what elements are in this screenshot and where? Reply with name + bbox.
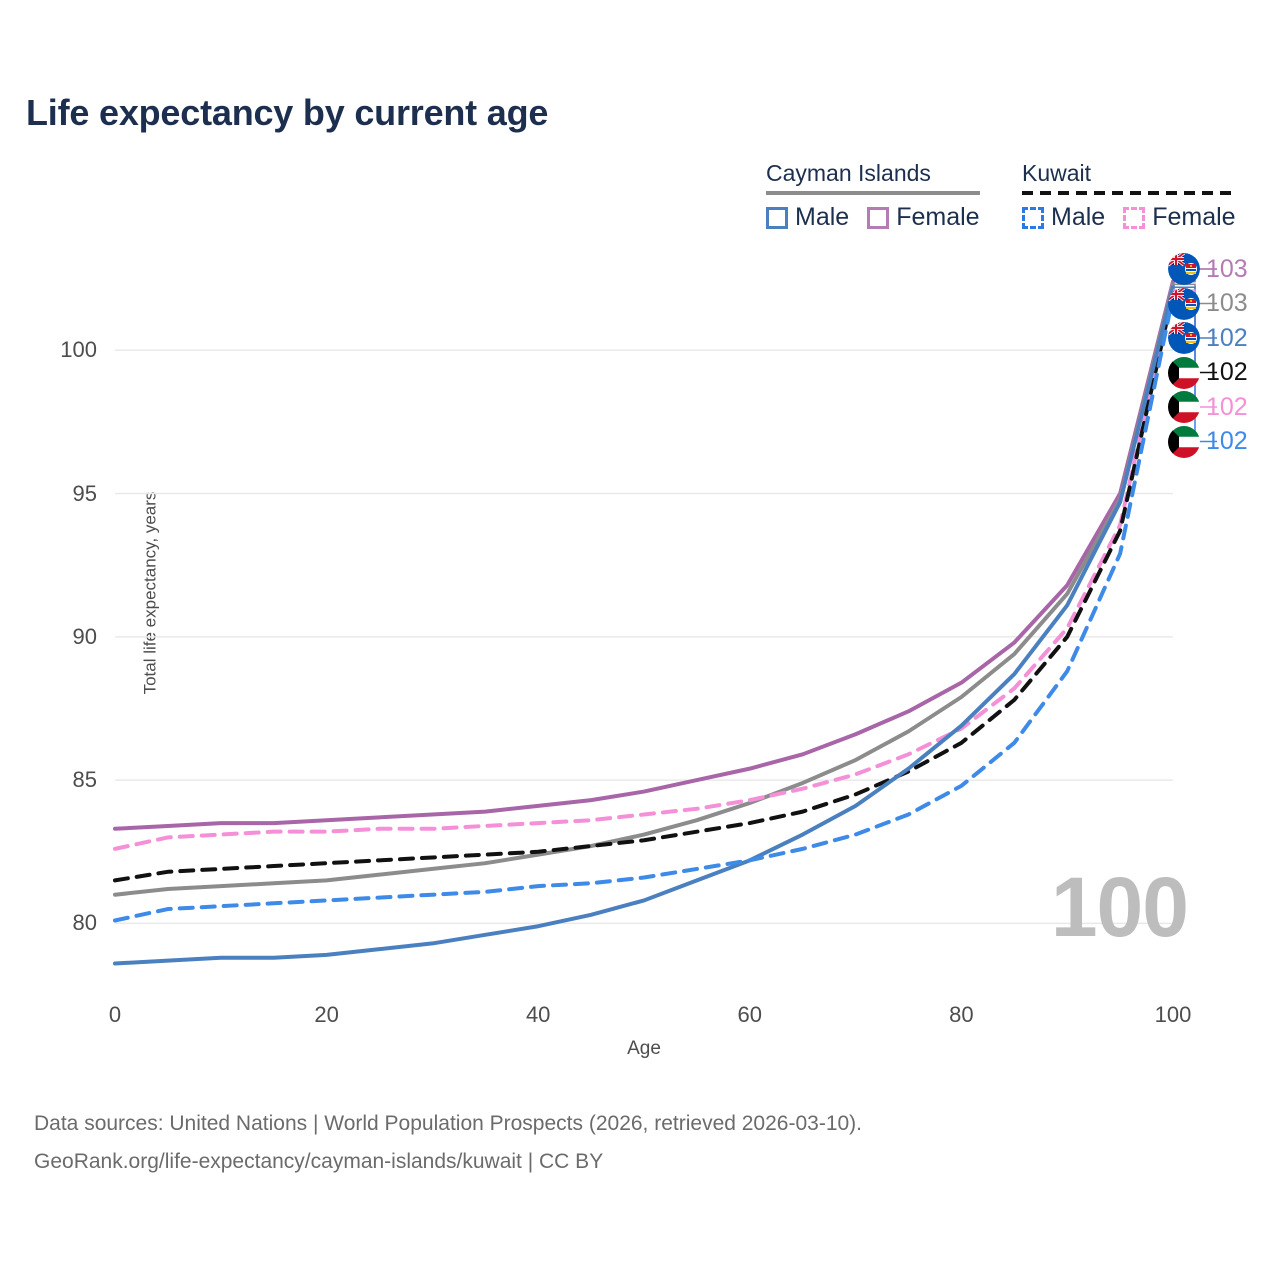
plot-lines: [115, 250, 1173, 995]
series-end-label: 102: [1168, 356, 1280, 391]
x-axis-tick-label: 40: [526, 1002, 550, 1028]
chart-root: Life expectancy by current age Cayman Is…: [0, 0, 1280, 1280]
kuwait-flag: [1168, 357, 1200, 389]
cayman-islands-flag: [1168, 253, 1200, 285]
series-end-labels: 103103102102102102: [1168, 252, 1280, 459]
legend-item-label: Female: [1152, 203, 1235, 232]
cayman-islands-flag: [1168, 322, 1200, 354]
x-axis-tick-label: 60: [738, 1002, 762, 1028]
watermark-100: 100: [1051, 865, 1188, 949]
kuwait-flag: [1168, 426, 1200, 458]
legend-swatch-dashed-blue-icon: [1022, 207, 1044, 229]
legend-item-cayman-female[interactable]: Female: [867, 203, 979, 232]
series-end-label: 102: [1168, 321, 1280, 356]
legend-item-kuwait-female[interactable]: Female: [1123, 203, 1235, 232]
series-end-value: 103: [1206, 291, 1248, 316]
series-end-label: 102: [1168, 390, 1280, 425]
series-line: [115, 296, 1173, 921]
legend-country-rule-solid: [766, 191, 980, 195]
x-axis-tick-label: 0: [109, 1002, 121, 1028]
x-axis-tick-label: 100: [1155, 1002, 1192, 1028]
legend-swatch-solid-blue-icon: [766, 207, 788, 229]
series-end-value: 102: [1206, 429, 1248, 454]
series-line: [115, 282, 1173, 829]
footer-data-sources: Data sources: United Nations | World Pop…: [34, 1105, 862, 1143]
y-axis-tick-label: 85: [73, 767, 111, 793]
series-end-value: 102: [1206, 395, 1248, 420]
footer-attribution: GeoRank.org/life-expectancy/cayman-islan…: [34, 1143, 862, 1181]
legend-item-label: Male: [1051, 203, 1105, 232]
series-line: [115, 287, 1173, 963]
plot-area: Total life expectancy, years 80859095100…: [115, 250, 1173, 995]
legend-swatch-solid-purple-icon: [867, 207, 889, 229]
series-end-value: 103: [1206, 257, 1248, 282]
legend-country-name: Kuwait: [1022, 160, 1236, 190]
legend-swatch-dashed-pink-icon: [1123, 207, 1145, 229]
x-axis-tick-label: 20: [314, 1002, 338, 1028]
legend-item-label: Female: [896, 203, 979, 232]
kuwait-flag: [1168, 391, 1200, 423]
y-axis-tick-label: 80: [73, 910, 111, 936]
series-line: [115, 290, 1173, 849]
series-end-label: 103: [1168, 287, 1280, 322]
x-axis-tick-label: 80: [949, 1002, 973, 1028]
series-end-value: 102: [1206, 326, 1248, 351]
series-end-label: 102: [1168, 425, 1280, 460]
series-end-label: 103: [1168, 252, 1280, 287]
page-title: Life expectancy by current age: [26, 92, 548, 134]
y-axis-tick-label: 100: [60, 337, 111, 363]
footer: Data sources: United Nations | World Pop…: [34, 1105, 862, 1181]
chart-legend: Cayman Islands Male Female Kuwait Male: [766, 160, 1256, 240]
legend-item-label: Male: [795, 203, 849, 232]
legend-country-name: Cayman Islands: [766, 160, 980, 190]
legend-group-kuwait: Kuwait Male Female: [1022, 160, 1236, 232]
legend-item-cayman-male[interactable]: Male: [766, 203, 849, 232]
series-end-value: 102: [1206, 360, 1248, 385]
series-line: [115, 284, 1173, 894]
y-axis-tick-label: 95: [73, 481, 111, 507]
legend-country-rule-dashed: [1022, 191, 1236, 195]
x-axis-label: Age: [627, 1038, 661, 1060]
cayman-islands-flag: [1168, 288, 1200, 320]
legend-group-cayman-islands: Cayman Islands Male Female: [766, 160, 980, 232]
legend-item-kuwait-male[interactable]: Male: [1022, 203, 1105, 232]
y-axis-tick-label: 90: [73, 624, 111, 650]
